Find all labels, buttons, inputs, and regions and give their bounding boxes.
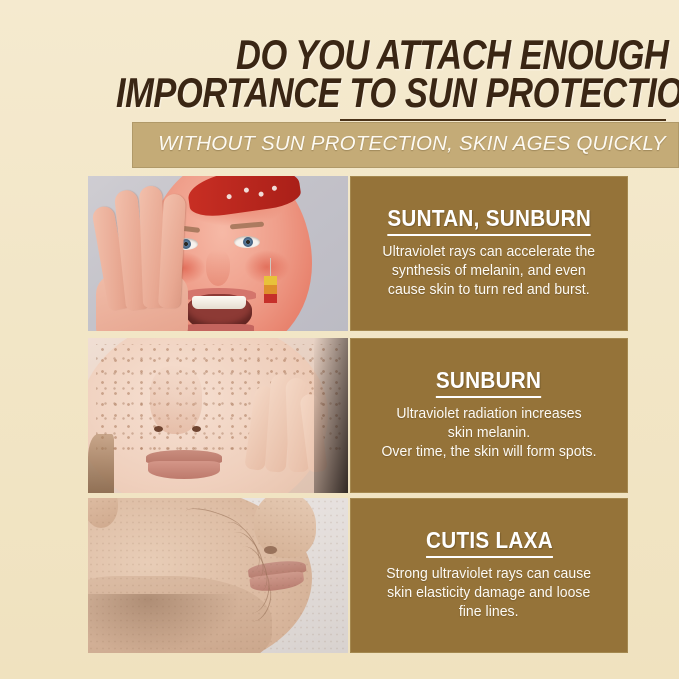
teeth — [192, 296, 246, 309]
card-body: Ultraviolet radiation increases skin mel… — [381, 405, 596, 462]
earring-red-segment — [264, 294, 277, 303]
poster-header: DO YOU ATTACH ENOUGH IMPORTANCE TO SUN P… — [0, 0, 679, 172]
card-sunburn: SUNBURN Ultraviolet radiation increases … — [350, 338, 628, 493]
hair-strand — [88, 434, 114, 493]
card-body-line: skin melanin. — [381, 424, 596, 443]
photo-freckled-face — [88, 338, 348, 493]
lower-lip — [148, 461, 220, 479]
earring-orange-segment — [264, 285, 277, 294]
infographic-poster: DO YOU ATTACH ENOUGH IMPORTANCE TO SUN P… — [0, 0, 679, 679]
nose — [206, 250, 230, 286]
card-cutis-laxa: CUTIS LAXA Strong ultraviolet rays can c… — [350, 498, 628, 653]
card-body-line: fine lines. — [387, 603, 592, 622]
content-row-cutis-laxa: CUTIS LAXA Strong ultraviolet rays can c… — [88, 498, 628, 653]
left-nostril — [154, 426, 163, 432]
photo-sunburned-woman — [88, 176, 348, 331]
card-body-line: synthesis of melanin, and even — [383, 262, 596, 281]
content-row-sunburn-red: SUNTAN, SUNBURN Ultraviolet rays can acc… — [88, 176, 628, 331]
card-title: SUNBURN — [436, 368, 541, 398]
card-body: Strong ultraviolet rays can cause skin e… — [387, 565, 592, 622]
poster-subtitle: WITHOUT SUN PROTECTION, SKIN AGES QUICKL… — [0, 131, 679, 157]
card-title: CUTIS LAXA — [426, 528, 553, 558]
title-underline — [340, 119, 666, 121]
content-row-spots: SUNBURN Ultraviolet radiation increases … — [88, 338, 628, 493]
hand-on-forehead — [94, 182, 184, 331]
nose — [150, 366, 202, 434]
card-body-line: Ultraviolet rays can accelerate the — [383, 243, 596, 262]
card-body: Ultraviolet rays can accelerate the synt… — [383, 243, 596, 300]
card-body-line: Ultraviolet radiation increases — [381, 405, 596, 424]
dark-background-edge — [314, 338, 348, 493]
card-body-line: skin elasticity damage and loose — [387, 584, 592, 603]
right-earring — [264, 276, 277, 304]
lower-lip — [184, 324, 254, 331]
right-eye — [234, 236, 260, 248]
title-line-2: IMPORTANCE TO SUN PROTECTION? — [116, 72, 679, 114]
earring-yellow-segment — [264, 276, 277, 285]
card-suntan-sunburn: SUNTAN, SUNBURN Ultraviolet rays can acc… — [350, 176, 628, 331]
earring-wire — [270, 258, 271, 278]
card-body-line: cause skin to turn red and burst. — [383, 281, 596, 300]
card-title: SUNTAN, SUNBURN — [387, 206, 591, 236]
card-body-line: Strong ultraviolet rays can cause — [387, 565, 592, 584]
right-nostril — [192, 426, 201, 432]
photo-aged-profile — [88, 498, 348, 653]
neck-shadow — [88, 594, 238, 653]
card-body-line: Over time, the skin will form spots. — [381, 443, 596, 462]
